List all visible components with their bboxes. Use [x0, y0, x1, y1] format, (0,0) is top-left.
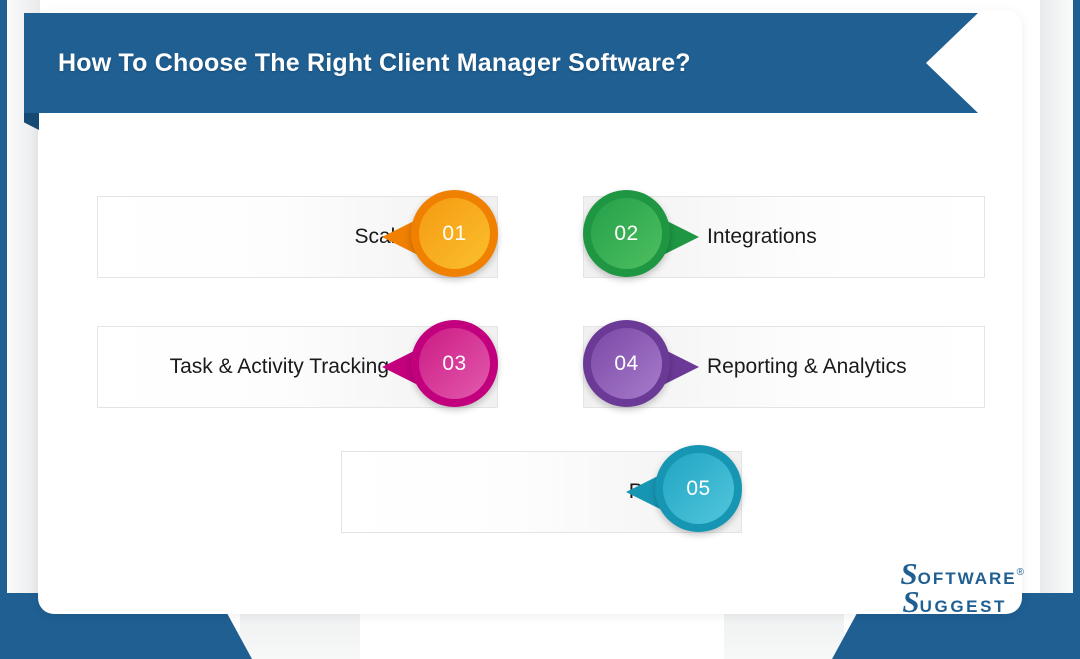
badge-disc: 01 [411, 190, 498, 277]
step-label: Task & Activity Tracking [97, 326, 389, 408]
step-badge[interactable]: 01 [404, 190, 498, 284]
registered-trademark-icon: ® [1017, 568, 1024, 578]
badge-disc: 02 [583, 190, 670, 277]
logo-word-suggest: uggest [920, 598, 1007, 615]
step-badge[interactable]: 05 [648, 445, 742, 539]
step-item-04[interactable]: Reporting & Analytics 04 [583, 326, 985, 408]
brand-logo[interactable]: S oftware ® S uggest [900, 558, 1024, 617]
step-number: 05 [663, 453, 734, 524]
step-number: 02 [591, 198, 662, 269]
badge-disc: 03 [411, 320, 498, 407]
step-number: 04 [591, 328, 662, 399]
infographic-canvas: How To Choose The Right Client Manager S… [0, 0, 1080, 659]
logo-initial-s-2: S [902, 586, 919, 617]
logo-line-2: S uggest [902, 586, 1024, 617]
step-item-03[interactable]: Task & Activity Tracking 03 [97, 326, 498, 408]
step-label: Integrations [707, 196, 985, 278]
step-item-01[interactable]: Scalability 01 [97, 196, 498, 278]
logo-word-software: oftware [918, 570, 1017, 587]
step-badge[interactable]: 02 [583, 190, 677, 284]
step-badge[interactable]: 03 [404, 320, 498, 414]
step-number: 03 [419, 328, 490, 399]
step-item-02[interactable]: Integrations 02 [583, 196, 985, 278]
step-label: Reporting & Analytics [707, 326, 985, 408]
step-item-05[interactable]: Pricing 05 [341, 451, 742, 533]
badge-disc: 04 [583, 320, 670, 407]
step-badge[interactable]: 04 [583, 320, 677, 414]
step-number: 01 [419, 198, 490, 269]
badge-disc: 05 [655, 445, 742, 532]
